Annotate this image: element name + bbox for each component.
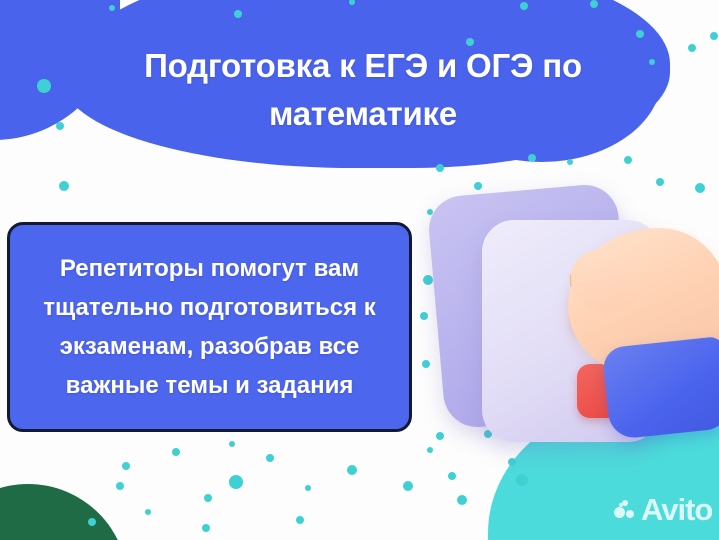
description-text: Репетиторы помогут вам тщательно подгото… bbox=[10, 249, 409, 405]
decorative-dot bbox=[172, 448, 180, 456]
decorative-dot bbox=[116, 482, 124, 490]
decorative-dot bbox=[636, 30, 644, 38]
decorative-dot bbox=[649, 59, 655, 65]
promo-poster: Подготовка к ЕГЭ и ОГЭ по математике Реп… bbox=[0, 0, 719, 540]
decorative-dot bbox=[145, 509, 151, 515]
page-title: Подготовка к ЕГЭ и ОГЭ по математике bbox=[78, 42, 648, 138]
decorative-circle-green bbox=[0, 484, 128, 540]
decorative-dot bbox=[56, 122, 64, 130]
decorative-dot bbox=[520, 2, 528, 10]
decorative-dot bbox=[229, 441, 235, 447]
decorative-dot bbox=[202, 524, 210, 532]
checklist-illustration bbox=[420, 190, 719, 480]
avito-watermark: Avito bbox=[614, 494, 712, 525]
decorative-dot bbox=[204, 494, 212, 502]
decorative-dot bbox=[403, 481, 413, 491]
decorative-dot bbox=[296, 516, 304, 524]
decorative-dot bbox=[305, 485, 311, 491]
decorative-dot bbox=[436, 164, 444, 172]
decorative-dot bbox=[37, 79, 51, 93]
decorative-dot bbox=[88, 518, 96, 526]
decorative-dot bbox=[266, 454, 274, 462]
decorative-dot bbox=[624, 156, 632, 164]
decorative-dot bbox=[229, 475, 243, 489]
decorative-dot bbox=[656, 178, 664, 186]
decorative-dot bbox=[59, 181, 69, 191]
decorative-dot bbox=[567, 159, 573, 165]
decorative-dot bbox=[688, 44, 696, 52]
decorative-dot bbox=[347, 465, 357, 475]
decorative-dot bbox=[234, 10, 242, 18]
decorative-dot bbox=[457, 495, 467, 505]
avito-logo-icon bbox=[614, 500, 636, 520]
decorative-dot bbox=[710, 32, 718, 40]
decorative-dot bbox=[528, 154, 536, 162]
avito-wordmark: Avito bbox=[641, 494, 712, 525]
sleeve-cuff-icon bbox=[602, 336, 719, 440]
decorative-dot bbox=[474, 182, 482, 190]
description-card: Репетиторы помогут вам тщательно подгото… bbox=[7, 222, 412, 432]
decorative-dot bbox=[122, 462, 130, 470]
decorative-dot bbox=[109, 5, 115, 11]
decorative-dot bbox=[590, 0, 598, 8]
